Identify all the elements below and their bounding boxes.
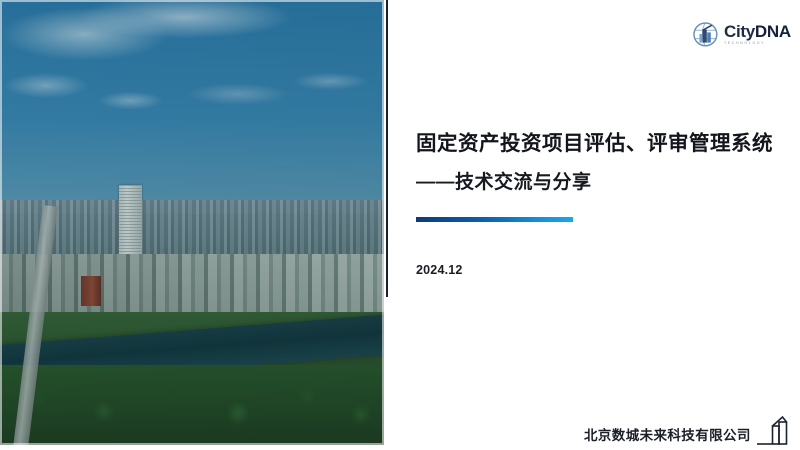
hero-city-photo [0,0,384,445]
vertical-accent-rule [386,0,388,297]
logo-tagline: TECHNOLOGY [724,42,791,46]
building-outline-icon [755,415,789,447]
photo-white-matte [0,0,384,445]
presentation-title-slide: CityDNA TECHNOLOGY 固定资产投资项目评估、评审管理系统 ——技… [0,0,800,450]
title-block: 固定资产投资项目评估、评审管理系统 ——技术交流与分享 [416,132,776,193]
page-title: 固定资产投资项目评估、评审管理系统 [416,132,776,156]
company-name: 北京数城未来科技有限公司 [584,424,751,444]
date-label: 2024.12 [416,263,463,277]
logo-wordmark: CityDNA TECHNOLOGY [724,23,791,46]
citydna-circular-building-mark-icon [692,20,720,48]
logo-word-secondary: DNA [755,22,791,41]
footer-company: 北京数城未来科技有限公司 [584,415,789,444]
brand-logo: CityDNA TECHNOLOGY [692,17,788,51]
logo-word-primary: City [724,22,755,41]
accent-bar [416,217,573,222]
page-subtitle: ——技术交流与分享 [416,172,776,194]
